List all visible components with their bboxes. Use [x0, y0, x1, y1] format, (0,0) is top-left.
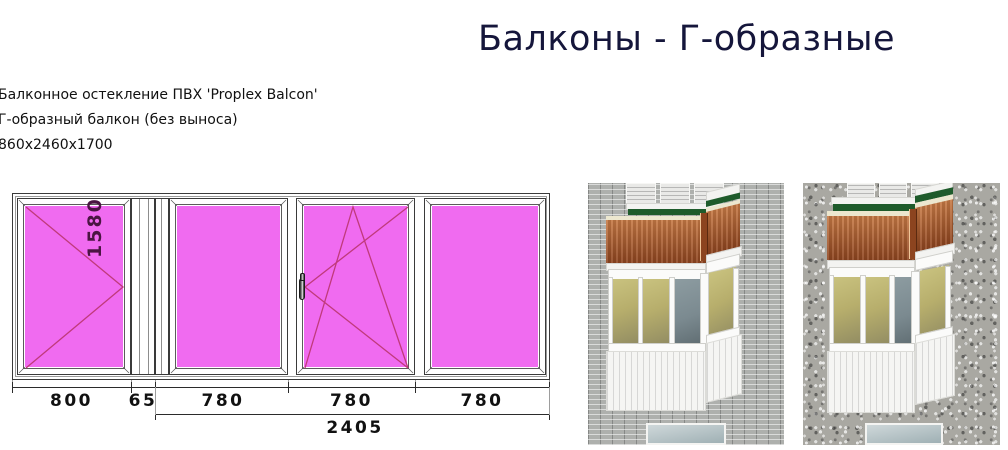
glazing-pane-1 — [612, 279, 638, 347]
dim-label-780-b: 780 — [288, 391, 415, 411]
photo-pebble-content — [803, 183, 1000, 445]
lower-floor-window — [646, 423, 726, 445]
ext-line-total-left — [155, 387, 156, 415]
specification-text: Балконное остекление ПВХ 'Proplex Balcon… — [0, 83, 318, 158]
dimension-line-segments — [12, 387, 550, 388]
page-title: Балконы - Г-образные — [478, 19, 895, 59]
spec-line-dimensions: 860x2460x1700 — [0, 133, 318, 158]
glazing-mullion-1 — [638, 277, 643, 349]
upper-window-1 — [626, 183, 656, 205]
photo-brick-content — [588, 183, 784, 445]
balcony-siding-side — [706, 334, 742, 403]
dimension-line-total — [155, 414, 550, 415]
sash-3-opening-indicator — [297, 199, 416, 376]
balcony-siding-front — [606, 351, 706, 411]
sash-4-glass — [432, 206, 538, 367]
glazing-mullion-2 — [889, 275, 895, 349]
mullion-second-line — [161, 199, 162, 374]
balcony-wood-cladding-front — [827, 216, 915, 261]
sash-1-turn[interactable] — [17, 198, 131, 375]
window-elevation-drawing: 1580 800 65 780 780 780 2405 — [0, 180, 575, 450]
glazing-jamb-left — [829, 275, 834, 349]
glazing-mullion-2 — [669, 277, 675, 349]
sash-3-tilt-and-turn[interactable] — [296, 198, 415, 375]
balcony-siding-front — [827, 351, 915, 413]
glazing-pane-2 — [865, 277, 891, 347]
sash-2-fixed[interactable] — [169, 198, 288, 375]
sash-3-handle[interactable] — [299, 278, 305, 300]
lower-floor-window — [865, 423, 943, 445]
sash-1-opening-indicator — [18, 199, 132, 376]
balcony-green-band-front — [628, 209, 706, 215]
glazing-pane-2 — [642, 279, 670, 347]
dim-label-780-a: 780 — [158, 391, 288, 411]
photo-balcony-pebble — [803, 183, 1000, 445]
spec-line-product: Балконное остекление ПВХ 'Proplex Balcon… — [0, 83, 318, 108]
height-dimension-label: 1580 — [84, 197, 106, 258]
balcony-siding-side — [915, 334, 955, 405]
mullion-line-right — [148, 199, 149, 374]
glazing-jamb-left — [608, 277, 613, 349]
spec-line-type: Г-образный балкон (без выноса) — [0, 108, 318, 133]
dim-label-800: 800 — [12, 391, 131, 411]
balcony-green-band-front — [833, 204, 915, 211]
glazing-mullion-1 — [860, 275, 866, 349]
upper-window-2 — [660, 183, 690, 205]
sash-2-glass — [177, 206, 280, 367]
dim-label-total: 2405 — [255, 418, 455, 438]
dim-label-780-c: 780 — [415, 391, 549, 411]
glazing-pane-3 — [674, 279, 702, 347]
sash-4-fixed[interactable] — [424, 198, 546, 375]
glazing-pane-1 — [833, 277, 861, 347]
page-root: Балконы - Г-образные Балконное остеклени… — [0, 0, 1008, 450]
ext-line-total-right — [549, 387, 550, 415]
photo-balcony-brick — [588, 183, 784, 445]
mullion-line-left — [139, 199, 140, 374]
balcony-wood-cladding-front — [606, 220, 706, 264]
corner-post-mullion — [131, 198, 155, 375]
corner-post-second — [155, 198, 169, 375]
